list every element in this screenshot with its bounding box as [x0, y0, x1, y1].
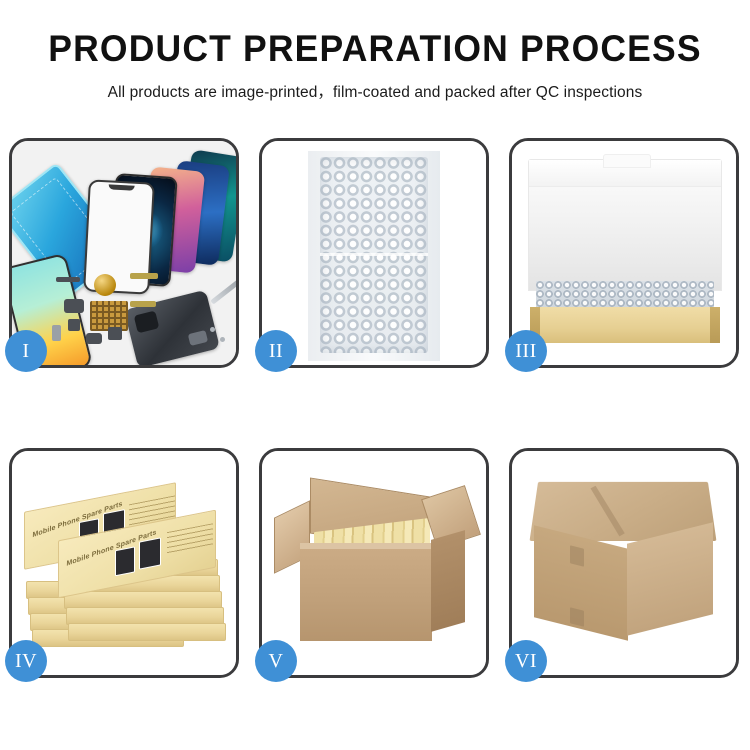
spec-text-lines: [167, 523, 213, 556]
small-part-strip: [56, 277, 80, 282]
process-step-panel-4[interactable]: Mobile Phone Spare Parts Mobile Phone Sp…: [9, 448, 239, 678]
step-badge-4: IV: [5, 640, 47, 682]
screw-part-2: [220, 337, 225, 342]
bubble-wrapped-contents: [536, 281, 714, 309]
carton-front-face: [300, 549, 432, 641]
carton-side-face: [431, 530, 465, 632]
screw-part: [210, 327, 215, 332]
process-step-panel-1[interactable]: I: [9, 138, 239, 368]
flex-cable-part-2: [130, 301, 156, 307]
step-5-image: [262, 451, 486, 675]
step-4-image: Mobile Phone Spare Parts Mobile Phone Sp…: [12, 451, 236, 675]
battery-connector-part: [86, 333, 102, 344]
speaker-part: [94, 274, 116, 296]
step-3-image: [512, 141, 736, 365]
step-badge-5: V: [255, 640, 297, 682]
process-step-panel-2[interactable]: II: [259, 138, 489, 368]
vibration-motor-part: [108, 327, 122, 340]
step-1-image: [12, 141, 236, 365]
step-badge-2: II: [255, 330, 297, 372]
step-2-image: [262, 141, 486, 365]
page-header: PRODUCT PREPARATION PROCESS All products…: [0, 0, 750, 102]
retail-box-stack: Mobile Phone Spare Parts Mobile Phone Sp…: [20, 469, 234, 665]
step-badge-1: I: [5, 330, 47, 372]
process-steps-grid: I II III: [9, 138, 741, 678]
retail-box-layer: [68, 623, 226, 641]
page-subtitle: All products are image-printed，film-coat…: [0, 80, 750, 102]
carton-tape-mark: [570, 607, 584, 626]
product-image-chip: [139, 537, 161, 569]
step-6-image: [512, 451, 736, 675]
sealed-carton-side-face: [627, 522, 713, 635]
step-badge-6: VI: [505, 640, 547, 682]
carton-tape-mark: [570, 545, 584, 566]
process-step-panel-3[interactable]: III: [509, 138, 739, 368]
camera-part: [68, 319, 80, 331]
process-step-panel-5[interactable]: V: [259, 448, 489, 678]
white-box-lid: [528, 159, 722, 291]
bubble-wrap-seam: [320, 253, 428, 256]
product-image-chip: [115, 546, 135, 576]
bracket-part: [64, 299, 84, 313]
sim-tray-part: [52, 325, 61, 341]
tweezers-tool: [210, 278, 236, 304]
yellow-box-base: [530, 307, 720, 343]
page-title: PRODUCT PREPARATION PROCESS: [15, 30, 735, 69]
step-badge-3: III: [505, 330, 547, 372]
process-step-panel-6[interactable]: VI: [509, 448, 739, 678]
flex-cable-part: [130, 273, 158, 279]
